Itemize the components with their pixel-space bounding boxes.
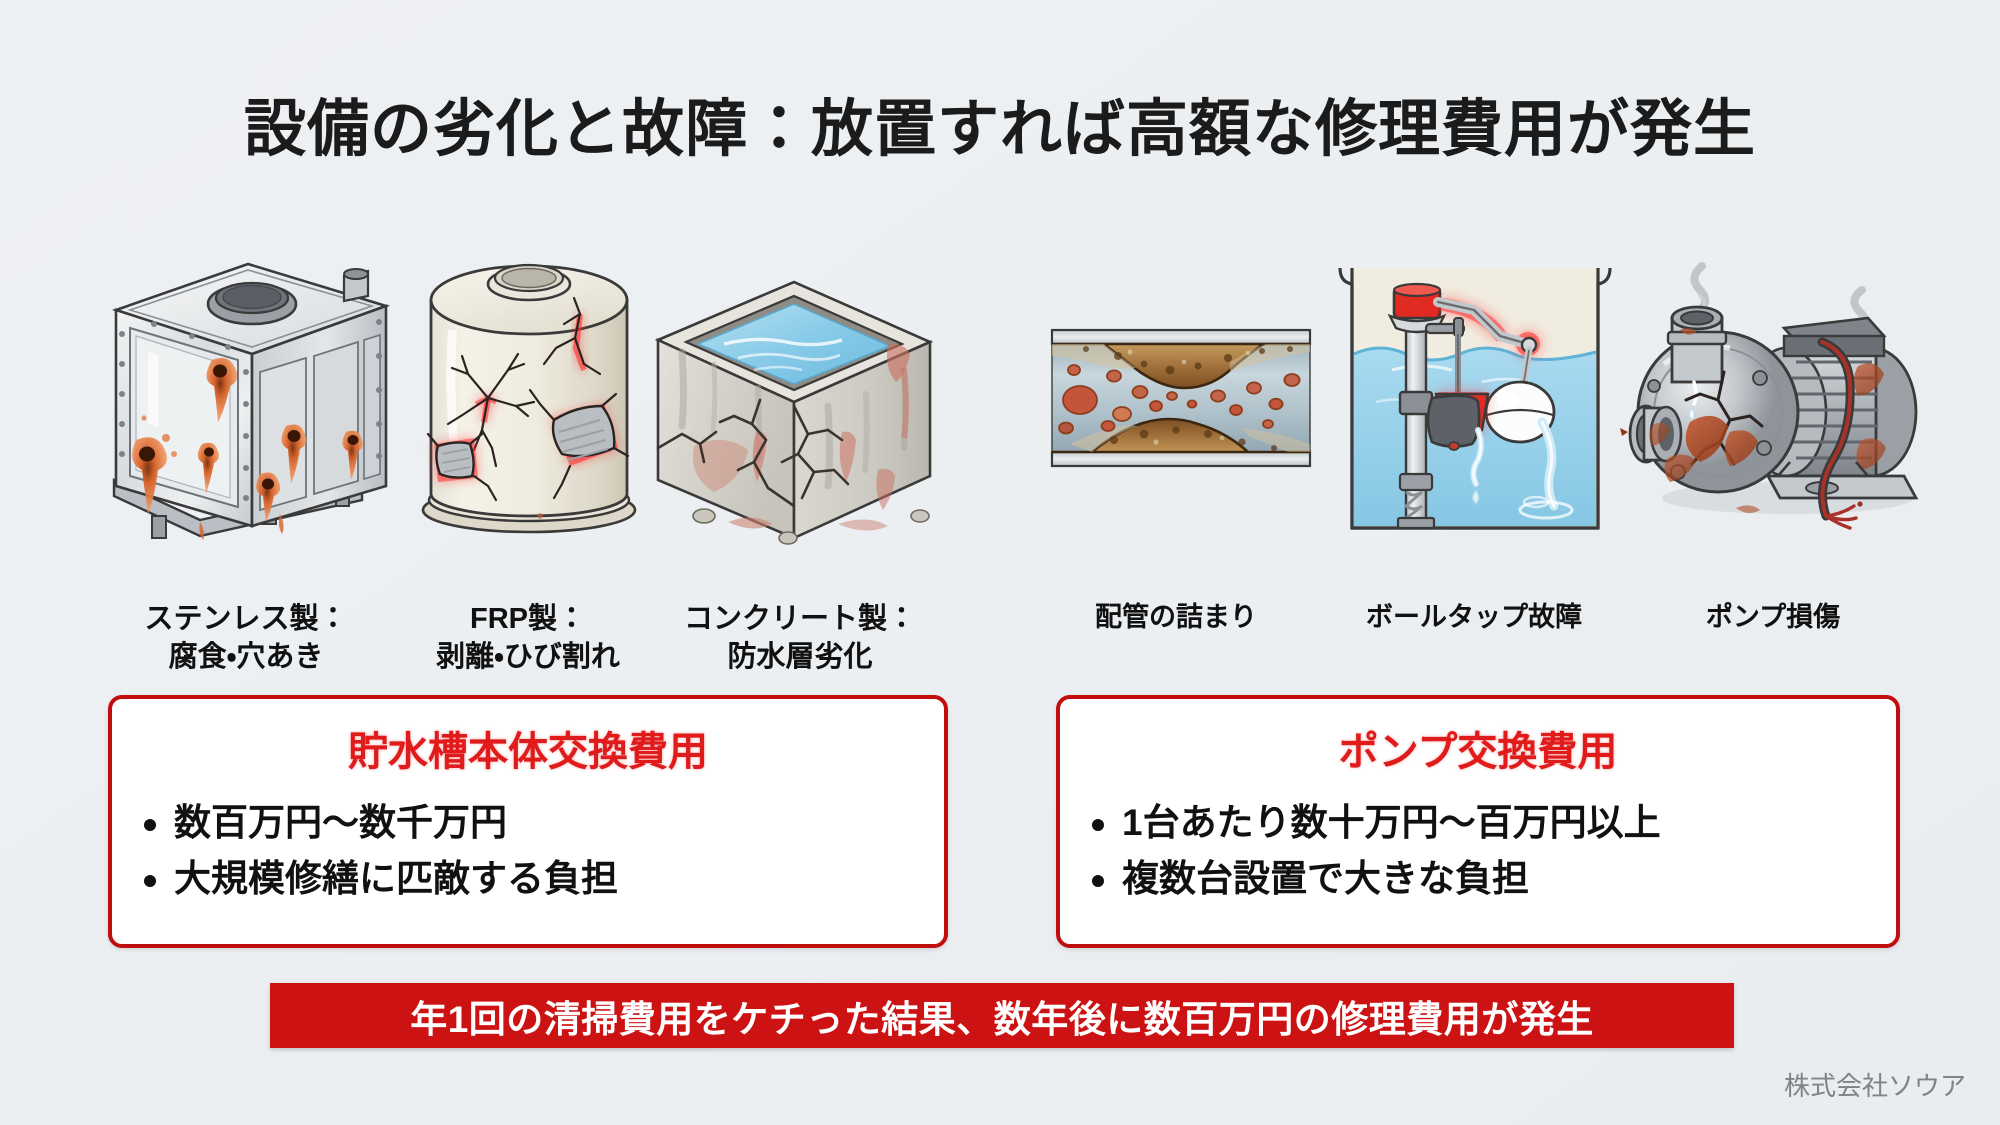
cost-box-pump-title: ポンプ交換費用	[1060, 719, 1896, 777]
caption-damaged-pump: ポンプ損傷	[1638, 600, 1908, 636]
cost-box-pump-list: 1台あたり数十万円〜百万円以上 複数台設置で大きな負担	[1060, 795, 1896, 907]
caption-clogged-pipe: 配管の詰まり	[1046, 600, 1306, 636]
cost-bullet: 1台あたり数十万円〜百万円以上	[1122, 795, 1896, 851]
caption-frp-tank: FRP製： 剥離・ひび割れ	[378, 600, 678, 677]
cost-box-pump: ポンプ交換費用 1台あたり数十万円〜百万円以上 複数台設置で大きな負担	[1056, 695, 1900, 948]
caption-ball-tap: ボールタップ故障	[1318, 600, 1630, 636]
concrete-tank-icon	[642, 248, 942, 544]
cost-bullet: 数百万円〜数千万円	[174, 795, 944, 851]
illustration-stage	[0, 0, 2000, 1125]
warning-banner: 年1回の清掃費用をケチった結果、数年後に数百万円の修理費用が発生	[270, 983, 1734, 1048]
clogged-pipe-icon	[1052, 318, 1310, 478]
damaged-pump-icon	[1618, 236, 1930, 526]
ball-tap-icon	[1332, 252, 1618, 542]
caption-stainless-tank: ステンレス製： 腐食・穴あき	[96, 600, 396, 677]
cost-box-tank-list: 数百万円〜数千万円 大規模修繕に匹敵する負担	[112, 795, 944, 907]
cost-box-tank: 貯水槽本体交換費用 数百万円〜数千万円 大規模修繕に匹敵する負担	[108, 695, 948, 948]
company-footer: 株式会社ソウア	[1784, 1066, 1966, 1103]
frp-tank-icon	[404, 252, 654, 544]
cost-bullet: 複数台設置で大きな負担	[1122, 851, 1896, 907]
cost-bullet: 大規模修繕に匹敵する負担	[174, 851, 944, 907]
stainless-tank-icon	[100, 248, 400, 543]
caption-concrete-tank: コンクリート製： 防水層劣化	[650, 600, 950, 677]
cost-box-tank-title: 貯水槽本体交換費用	[112, 719, 944, 777]
